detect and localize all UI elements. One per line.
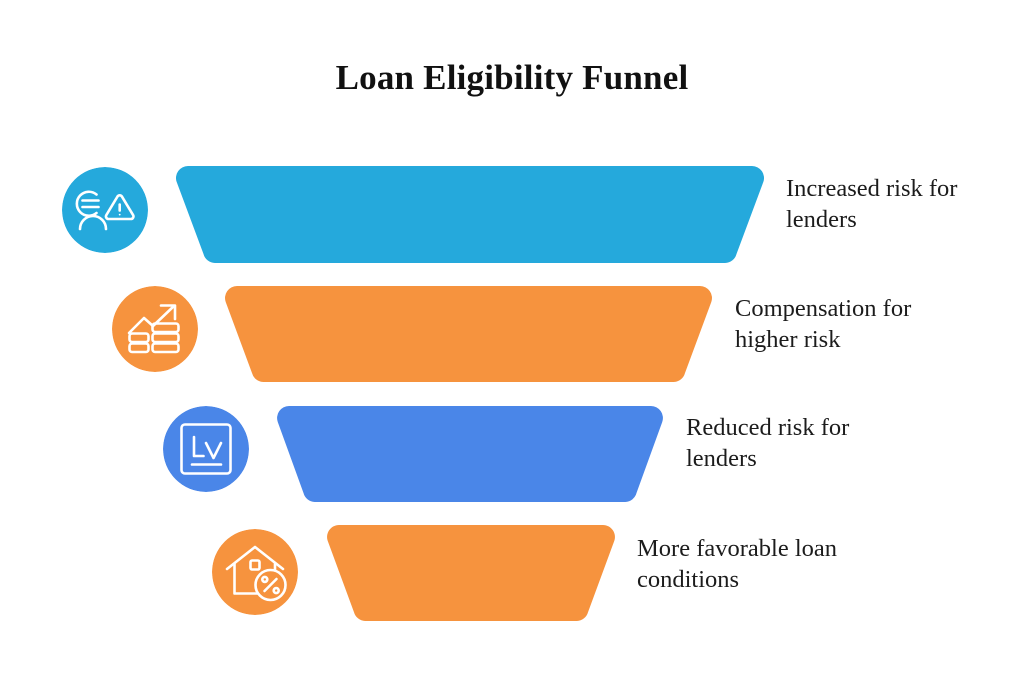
page-title: Loan Eligibility Funnel xyxy=(0,58,1024,98)
stage-label-3: Reduced risk for lenders xyxy=(686,412,901,474)
euro-person-warning-icon[interactable] xyxy=(62,167,148,253)
funnel-bar-2[interactable] xyxy=(225,286,712,382)
house-percent-icon[interactable] xyxy=(212,529,298,615)
funnel-bar-3[interactable] xyxy=(277,406,663,502)
funnel-diagram-canvas: Loan Eligibility Funnel Increased risk f… xyxy=(0,0,1024,689)
stage-label-1: Increased risk for lenders xyxy=(786,173,1004,235)
ltv-square-icon[interactable] xyxy=(163,406,249,492)
stage-label-4: More favorable loan conditions xyxy=(637,533,882,595)
funnel-bar-1[interactable] xyxy=(176,166,764,263)
funnel-bar-4[interactable] xyxy=(327,525,615,621)
growth-chart-coins-icon[interactable] xyxy=(112,286,198,372)
stage-label-2: Compensation for higher risk xyxy=(735,293,965,355)
